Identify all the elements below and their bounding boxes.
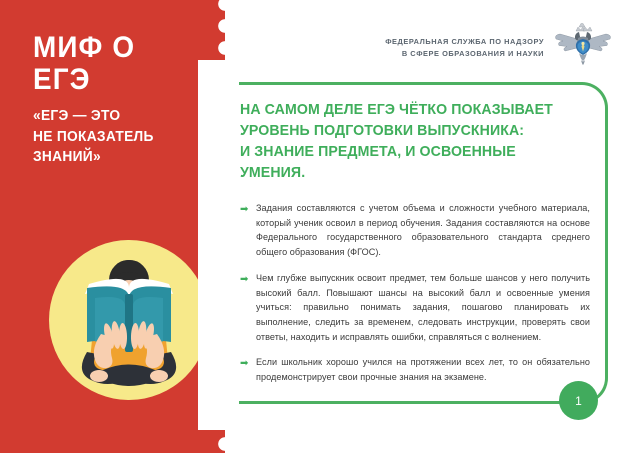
- main-content: НА САМОМ ДЕЛЕ ЕГЭ ЧЁТКО ПОКАЗЫВАЕТ УРОВЕ…: [240, 100, 590, 396]
- body-paragraph: ➡ Чем глубже выпускник освоит предмет, т…: [240, 271, 590, 345]
- org-header-line-2: В СФЕРЕ ОБРАЗОВАНИЯ И НАУКИ: [385, 48, 544, 60]
- body-paragraph-text: Чем глубже выпускник освоит предмет, тем…: [256, 273, 590, 342]
- organization-header: ФЕДЕРАЛЬНАЯ СЛУЖБА ПО НАДЗОРУ В СФЕРЕ ОБ…: [385, 36, 544, 60]
- arrow-bullet-icon: ➡: [240, 272, 248, 287]
- person-reading-book-illustration: [45, 236, 213, 404]
- page-number-badge: 1: [559, 381, 598, 420]
- rosobrnadzor-double-headed-eagle-emblem: [552, 22, 614, 68]
- body-paragraph: ➡ Задания составляются с учетом объема и…: [240, 201, 590, 260]
- myth-quote-subtitle: «ЕГЭ — ЭТО НЕ ПОКАЗАТЕЛЬ ЗНАНИЙ»: [33, 106, 204, 168]
- body-paragraph-text: Задания составляются с учетом объема и с…: [256, 203, 590, 257]
- perforated-tear-edge: [214, 0, 236, 453]
- arrow-bullet-icon: ➡: [240, 202, 248, 217]
- main-heading: НА САМОМ ДЕЛЕ ЕГЭ ЧЁТКО ПОКАЗЫВАЕТ УРОВЕ…: [240, 100, 580, 184]
- body-paragraph-text: Если школьник хорошо учился на протяжени…: [256, 357, 590, 382]
- infographic-poster: МИФ О ЕГЭ «ЕГЭ — ЭТО НЕ ПОКАЗАТЕЛЬ ЗНАНИ…: [0, 0, 640, 453]
- arrow-bullet-icon: ➡: [240, 356, 248, 371]
- org-header-line-1: ФЕДЕРАЛЬНАЯ СЛУЖБА ПО НАДЗОРУ: [385, 36, 544, 48]
- page-title: МИФ О ЕГЭ: [33, 32, 200, 95]
- body-paragraph: ➡ Если школьник хорошо учился на протяже…: [240, 355, 590, 384]
